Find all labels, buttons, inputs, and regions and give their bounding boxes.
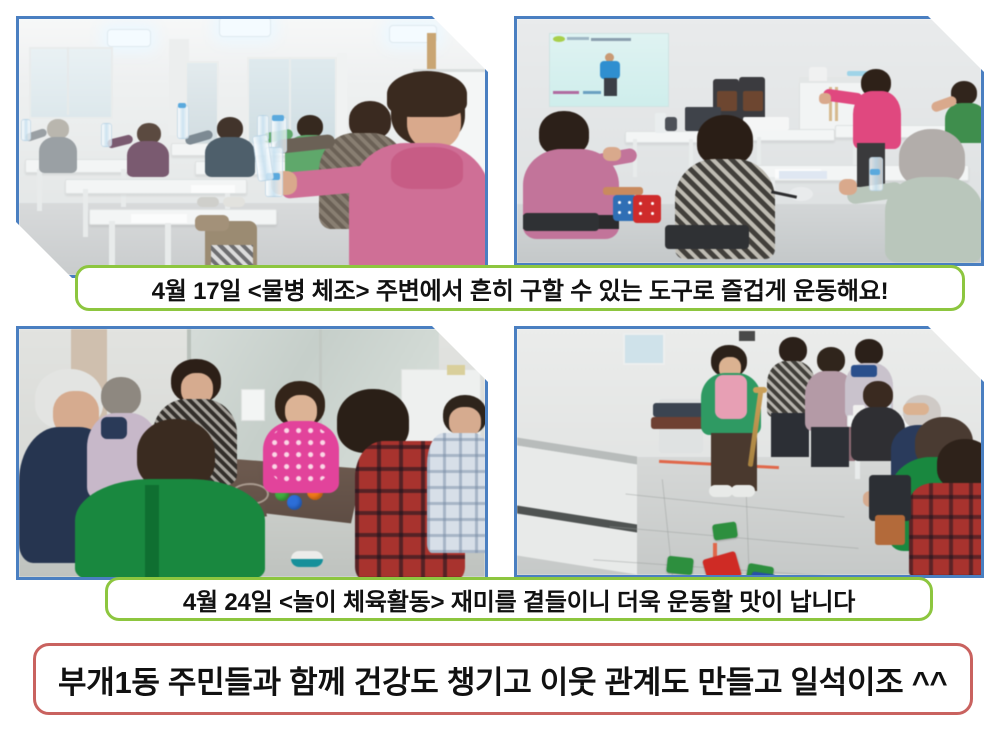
photo-beanbag-toss xyxy=(514,326,984,578)
caption-april-17-text: 4월 17일 <물병 체조> 주변에서 흔히 구할 수 있는 도구로 즐겁게 운… xyxy=(152,271,889,306)
photo-projector-class-canvas xyxy=(517,19,981,263)
caption-april-24-text: 4월 24일 <놀이 체육활동> 재미를 곁들이니 더욱 운동할 맛이 납니다 xyxy=(183,582,855,617)
photo-parachute-ball-game xyxy=(16,326,488,580)
footer-summary: 부개1동 주민들과 함께 건강도 챙기고 이웃 관계도 만들고 일석이조 ^^ xyxy=(33,643,973,715)
slide-root: { "slide": { "title_bar_color": "#8DC63F… xyxy=(0,0,1000,731)
caption-april-24: 4월 24일 <놀이 체육활동> 재미를 곁들이니 더욱 운동할 맛이 납니다 xyxy=(105,577,933,621)
photo-water-bottle-exercise xyxy=(16,16,488,278)
photo-beanbag-toss-canvas xyxy=(517,329,981,575)
caption-april-17: 4월 17일 <물병 체조> 주변에서 흔히 구할 수 있는 도구로 즐겁게 운… xyxy=(75,265,965,311)
photo-parachute-ball-game-canvas xyxy=(19,329,485,577)
photo-water-bottle-exercise-canvas xyxy=(19,19,485,275)
photo-projector-class xyxy=(514,16,984,266)
footer-summary-text: 부개1동 주민들과 함께 건강도 챙기고 이웃 관계도 만들고 일석이조 ^^ xyxy=(36,657,947,702)
